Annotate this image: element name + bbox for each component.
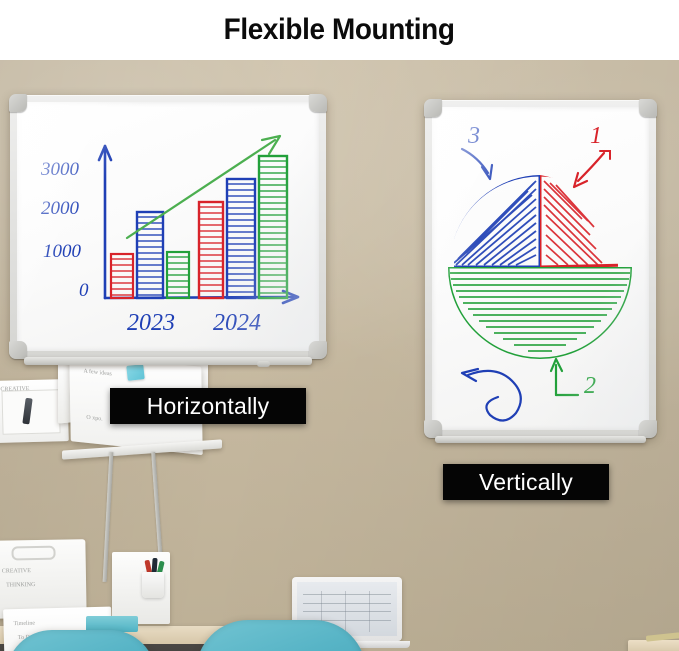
pen-tray: [435, 436, 646, 443]
frame-corner-bottom-right: [309, 341, 327, 359]
panel-note-creative: CREATIVE: [2, 568, 31, 575]
frame-corner-top-left: [424, 99, 442, 117]
svg-text:1000: 1000: [43, 241, 82, 262]
easel-note-1: A few ideas: [83, 368, 111, 377]
svg-text:3: 3: [467, 123, 480, 149]
sticky-note: [126, 364, 144, 381]
panel-note-text: CREATIVE: [0, 386, 29, 393]
panel-note-timeline: Timeline: [13, 621, 35, 628]
svg-text:3000: 3000: [40, 159, 80, 180]
panel-note-thinking: THINKING: [6, 582, 35, 589]
pen-cup: [142, 572, 164, 598]
frame-corner-bottom-left: [9, 341, 27, 359]
bar-chart-drawing: 3000 2000 1000 0: [17, 102, 319, 351]
frame-corner-top-left: [9, 94, 27, 112]
svg-text:2024: 2024: [213, 310, 261, 336]
panel-sheet: [1, 389, 60, 435]
pie-chart-drawing: 3 1 2: [432, 107, 649, 430]
whiteboard-surface: 3 1 2: [432, 107, 649, 430]
caption-horizontally: Horizontally: [110, 388, 306, 424]
whiteboard-surface: 3000 2000 1000 0: [17, 102, 319, 351]
whiteboard-vertical[interactable]: 3 1 2: [425, 100, 656, 437]
panel-handle: [11, 546, 55, 561]
whiteboard-horizontal[interactable]: 3000 2000 1000 0: [10, 95, 326, 358]
product-image: Flexible Mounting CREATIVE A few ideas O…: [0, 0, 679, 651]
svg-text:1: 1: [590, 123, 602, 149]
frame-corner-top-right: [309, 94, 327, 112]
frame-corner-top-right: [639, 99, 657, 117]
svg-text:2: 2: [584, 373, 596, 399]
svg-text:0: 0: [79, 280, 89, 301]
page-title: Flexible Mounting: [224, 13, 455, 47]
pen-tray-clip: [257, 361, 270, 367]
easel-note-2: O xpo.: [86, 415, 102, 423]
caption-vertically: Vertically: [443, 464, 609, 500]
title-banner: Flexible Mounting: [0, 0, 679, 60]
svg-text:2000: 2000: [41, 198, 80, 219]
office-scene-photo: CREATIVE A few ideas O xpo. CREATIVE THI…: [0, 60, 679, 651]
desk-right: [628, 640, 679, 651]
svg-text:2023: 2023: [127, 310, 175, 336]
